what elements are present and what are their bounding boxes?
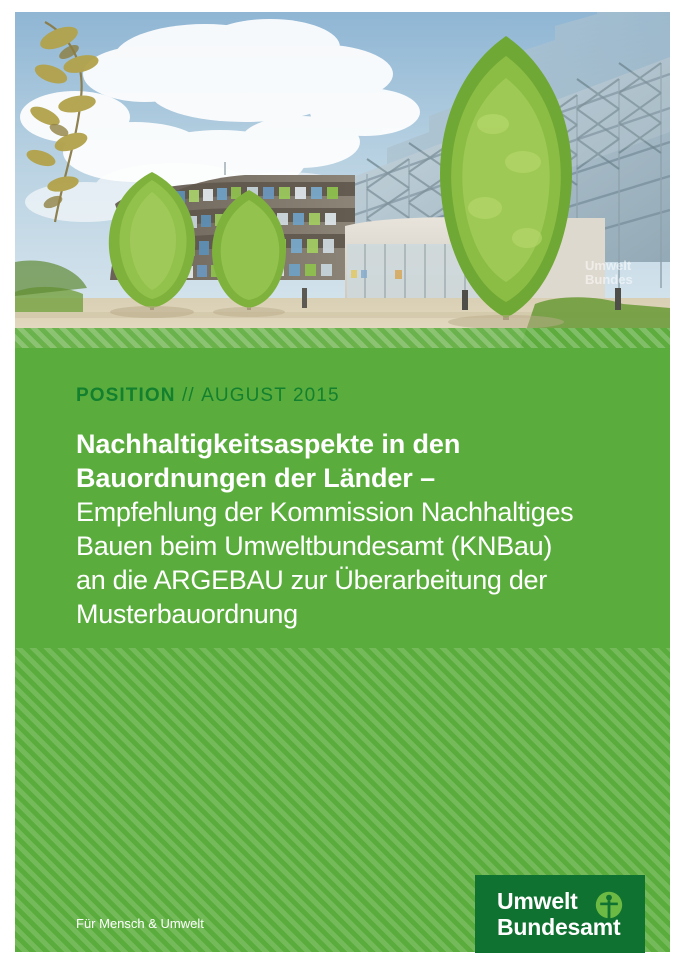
uba-figure-mark-icon [595,891,623,919]
series-label: POSITION [76,385,176,406]
cover-page: Umwelt Bundes [0,0,685,972]
publication-date: AUGUST 2015 [201,385,339,406]
document-title: Nachhaltigkeitsaspekte in den Bauordnung… [76,427,656,631]
title-line-2: Bauordnungen der Länder – [76,461,656,495]
subtitle-line-1: Empfehlung der Kommission Nachhaltiges [76,495,656,529]
building-sign-line1: Umwelt [585,258,632,273]
cover-photograph: Umwelt Bundes [15,12,670,348]
title-line-1: Nachhaltigkeitsaspekte in den [76,427,656,461]
uba-logo: Umwelt Bundesamt [475,875,645,953]
subtitle-line-2: Bauen beim Umweltbundesamt (KNBau) [76,529,656,563]
series-kicker: POSITION // AUGUST 2015 [76,385,340,407]
building-sign-line2: Bundes [585,272,633,287]
subtitle-line-4: Musterbauordnung [76,597,656,631]
photo-stripe-overlay [15,328,670,348]
kicker-separator: // [182,385,195,406]
subtitle-line-3: an die ARGEBAU zur Überarbeitung der [76,563,656,597]
tagline: Für Mensch & Umwelt [76,916,204,931]
building-photo-illustration: Umwelt Bundes [15,12,670,348]
